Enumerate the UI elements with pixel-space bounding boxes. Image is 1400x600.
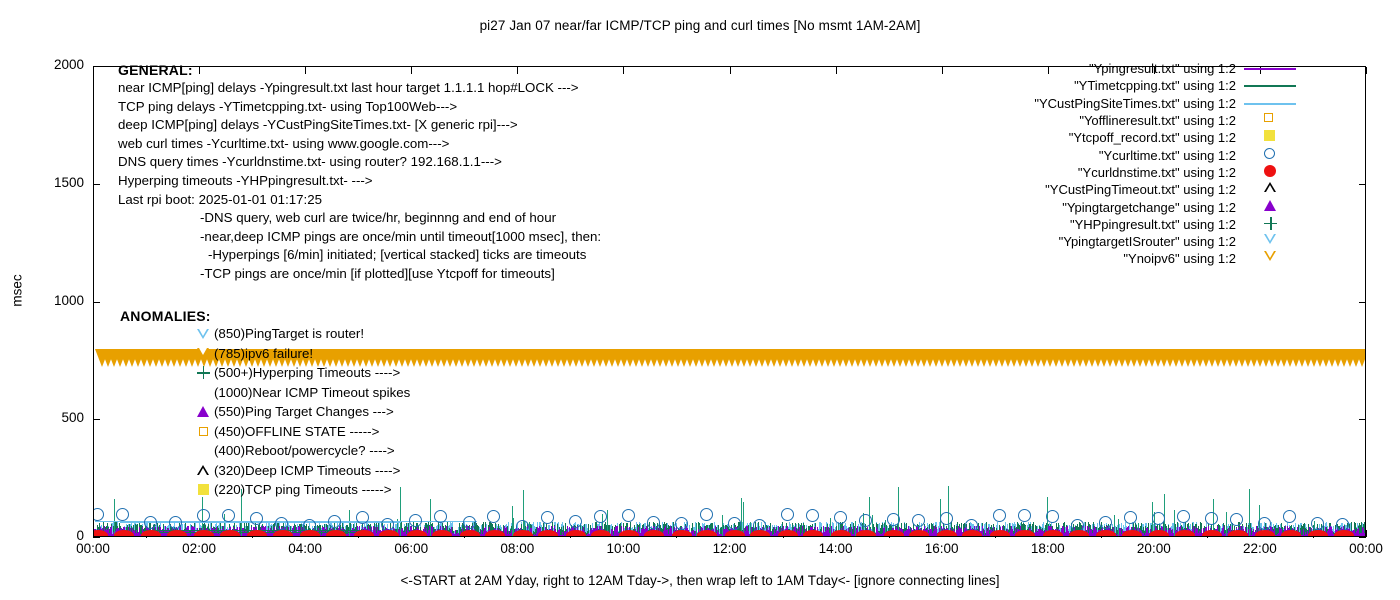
anomaly-label: (320)Deep ICMP Timeouts ----> — [214, 463, 400, 478]
legend-marker-swatch — [1264, 113, 1273, 122]
legend-line-swatch — [1244, 68, 1296, 70]
anomaly-row: (550)Ping Target Changes ---> — [120, 402, 740, 422]
x-tick-label: 10:00 — [583, 541, 663, 556]
anomaly-label: (850)PingTarget is router! — [214, 326, 364, 341]
anomaly-label: (500+)Hyperping Timeouts ----> — [214, 365, 400, 380]
x-tick-mark — [1366, 530, 1367, 537]
triangle-down-orange-marker-icon — [197, 348, 209, 358]
triangle-up-open-marker-icon — [197, 465, 209, 475]
general-line: DNS query times -Ycurldnstime.txt- using… — [118, 153, 878, 172]
y-tick-mark — [93, 537, 100, 538]
legend-line-swatch — [1244, 103, 1296, 105]
x-tick-label: 02:00 — [159, 541, 239, 556]
legend-label: "Ycurldnstime.txt" using 1:2 — [1078, 165, 1236, 180]
general-indented-line: -DNS query, web curl are twice/hr, begin… — [118, 209, 878, 228]
legend-label: "YHPpingresult.txt" using 1:2 — [1070, 217, 1236, 232]
anomaly-label: (400)Reboot/powercycle? ----> — [214, 443, 395, 458]
legend-label: "YCustPingSiteTimes.txt" using 1:2 — [1034, 96, 1236, 111]
general-indented-line: -Hyperpings [6/min] initiated; [vertical… — [118, 246, 878, 265]
legend-label: "Ypingresult.txt" using 1:2 — [1089, 61, 1236, 76]
x-tick-label: 00:00 — [53, 541, 133, 556]
y-tick-label: 500 — [24, 410, 84, 425]
legend-item[interactable]: "Ycurldnstime.txt" using 1:2 — [950, 164, 1298, 181]
anomaly-label: (220)TCP ping Timeouts -----> — [214, 482, 391, 497]
square-open-marker-icon — [1264, 113, 1273, 122]
circle-filled-marker-icon — [1264, 165, 1276, 177]
y-axis-label: msec — [10, 261, 25, 321]
legend-label: "YTimetcpping.txt" using 1:2 — [1074, 78, 1236, 93]
legend-label: "Ypingtargetchange" using 1:2 — [1062, 200, 1236, 215]
legend-key — [1242, 60, 1298, 77]
plus-marker-icon — [1264, 217, 1277, 230]
x-tick-label: 06:00 — [371, 541, 451, 556]
general-indented-line: -near,deep ICMP pings are once/min until… — [118, 228, 878, 247]
legend-label: "YCustPingTimeout.txt" using 1:2 — [1045, 182, 1236, 197]
x-tick-mark — [1366, 67, 1367, 74]
legend-key — [1242, 199, 1298, 216]
legend-marker-swatch — [1264, 217, 1277, 230]
legend-item[interactable]: "YCustPingTimeout.txt" using 1:2 — [950, 181, 1298, 198]
plus-marker-icon — [197, 366, 210, 379]
chart-title: pi27 Jan 07 near/far ICMP/TCP ping and c… — [0, 18, 1400, 33]
anomalies-rows: (850)PingTarget is router!(785)ipv6 fail… — [120, 324, 740, 500]
anomaly-marker — [192, 427, 214, 436]
anomaly-row: (450)OFFLINE STATE -----> — [120, 422, 740, 442]
legend-line-swatch — [1244, 85, 1296, 87]
anomaly-marker — [192, 465, 214, 475]
anomaly-label: (1000)Near ICMP Timeout spikes — [214, 385, 410, 400]
general-indented-line: -TCP pings are once/min [if plotted][use… — [118, 265, 878, 284]
anomalies-heading: ANOMALIES: — [120, 308, 740, 324]
legend-key — [1242, 216, 1298, 233]
x-tick-label: 22:00 — [1220, 541, 1300, 556]
legend-item[interactable]: "Ypingtargetchange" using 1:2 — [950, 198, 1298, 215]
legend-key — [1242, 147, 1298, 164]
legend-item[interactable]: "Ytcpoff_record.txt" using 1:2 — [950, 129, 1298, 146]
anomaly-label: (550)Ping Target Changes ---> — [214, 404, 394, 419]
x-tick-label: 04:00 — [265, 541, 345, 556]
legend-label: "Ytcpoff_record.txt" using 1:2 — [1069, 130, 1236, 145]
triangle-up-filled-marker-icon — [197, 406, 209, 417]
y-tick-label: 1000 — [24, 293, 84, 308]
anomaly-marker — [192, 406, 214, 417]
legend-key — [1242, 233, 1298, 250]
general-indented-lines: -DNS query, web curl are twice/hr, begin… — [118, 209, 878, 283]
y-tick-label: 1500 — [24, 175, 84, 190]
anomaly-row: (320)Deep ICMP Timeouts ----> — [120, 461, 740, 481]
anomaly-label: (785)ipv6 failure! — [214, 346, 313, 361]
legend-item[interactable]: "YHPpingresult.txt" using 1:2 — [950, 216, 1298, 233]
y-tick-label: 2000 — [24, 57, 84, 72]
legend-key — [1242, 112, 1298, 129]
general-lines: near ICMP[ping] delays -Ypingresult.txt … — [118, 79, 878, 209]
legend-item[interactable]: "YpingtargetISrouter" using 1:2 — [950, 233, 1298, 250]
x-tick-label: 16:00 — [902, 541, 982, 556]
legend-item[interactable]: "Yofflineresult.txt" using 1:2 — [950, 112, 1298, 129]
y-tick-mark — [1359, 537, 1366, 538]
x-tick-label: 14:00 — [796, 541, 876, 556]
legend-item[interactable]: "Ynoipv6" using 1:2 — [950, 250, 1298, 267]
legend-marker-swatch — [1264, 148, 1275, 159]
general-line: deep ICMP[ping] delays -YCustPingSiteTim… — [118, 116, 878, 135]
legend-marker-swatch — [1264, 165, 1276, 177]
general-line: Hyperping timeouts -YHPpingresult.txt- -… — [118, 172, 878, 191]
anomaly-row: (400)Reboot/powercycle? ----> — [120, 441, 740, 461]
legend-key — [1242, 181, 1298, 198]
legend-label: "YpingtargetISrouter" using 1:2 — [1059, 234, 1236, 249]
x-tick-label: 08:00 — [477, 541, 557, 556]
general-line: TCP ping delays -YTimetcpping.txt- using… — [118, 98, 878, 117]
legend-key — [1242, 95, 1298, 112]
legend-item[interactable]: "YTimetcpping.txt" using 1:2 — [950, 77, 1298, 94]
x-tick-label: 20:00 — [1114, 541, 1194, 556]
anomaly-row: (500+)Hyperping Timeouts ----> — [120, 363, 740, 383]
x-tick-label: 18:00 — [1008, 541, 1088, 556]
x-tick-label: 00:00 — [1326, 541, 1400, 556]
legend-item[interactable]: "YCustPingSiteTimes.txt" using 1:2 — [950, 95, 1298, 112]
legend-label: "Ycurltime.txt" using 1:2 — [1099, 148, 1236, 163]
square-filled-marker-icon — [1264, 130, 1275, 141]
anomaly-label: (450)OFFLINE STATE -----> — [214, 424, 379, 439]
legend-item[interactable]: "Ypingresult.txt" using 1:2 — [950, 60, 1298, 77]
legend-marker-swatch — [1264, 251, 1276, 261]
anomaly-marker — [192, 484, 214, 495]
anomaly-marker — [192, 366, 214, 379]
legend-marker-swatch — [1264, 130, 1275, 141]
general-line: web curl times -Ycurltime.txt- using www… — [118, 135, 878, 154]
triangle-down-open-marker-icon — [197, 329, 209, 339]
anomaly-row: (1000)Near ICMP Timeout spikes — [120, 383, 740, 403]
anomalies-block: ANOMALIES: (850)PingTarget is router!(78… — [120, 308, 740, 500]
legend-marker-swatch — [1264, 200, 1276, 211]
triangle-up-filled-marker-icon — [1264, 200, 1276, 211]
x-tick-label: 12:00 — [690, 541, 770, 556]
legend-label: "Yofflineresult.txt" using 1:2 — [1079, 113, 1236, 128]
legend-marker-swatch — [1264, 234, 1276, 244]
general-line: near ICMP[ping] delays -Ypingresult.txt … — [118, 79, 878, 98]
anomaly-row: (850)PingTarget is router! — [120, 324, 740, 344]
triangle-down-orange-marker-icon — [1264, 251, 1276, 261]
triangle-down-open-marker-icon — [1264, 234, 1276, 244]
legend-key — [1242, 129, 1298, 146]
general-line: Last rpi boot: 2025-01-01 01:17:25 — [118, 191, 878, 210]
anomaly-marker — [192, 329, 214, 339]
general-heading: GENERAL: — [118, 62, 878, 79]
square-filled-marker-icon — [198, 484, 209, 495]
legend-key — [1242, 250, 1298, 267]
triangle-up-open-marker-icon — [1264, 182, 1276, 192]
anomaly-row: (785)ipv6 failure! — [120, 344, 740, 364]
general-info-block: GENERAL: near ICMP[ping] delays -Ypingre… — [118, 62, 878, 284]
anomaly-marker — [192, 348, 214, 358]
x-axis-label: <-START at 2AM Yday, right to 12AM Tday-… — [0, 573, 1400, 588]
legend-label: "Ynoipv6" using 1:2 — [1123, 251, 1236, 266]
chart-legend: "Ypingresult.txt" using 1:2"YTimetcpping… — [950, 60, 1298, 268]
square-open-marker-icon — [199, 427, 208, 436]
legend-key — [1242, 164, 1298, 181]
anomaly-row: (220)TCP ping Timeouts -----> — [120, 480, 740, 500]
legend-key — [1242, 77, 1298, 94]
legend-item[interactable]: "Ycurltime.txt" using 1:2 — [950, 146, 1298, 163]
circle-open-marker-icon — [1264, 148, 1275, 159]
legend-marker-swatch — [1264, 182, 1276, 192]
